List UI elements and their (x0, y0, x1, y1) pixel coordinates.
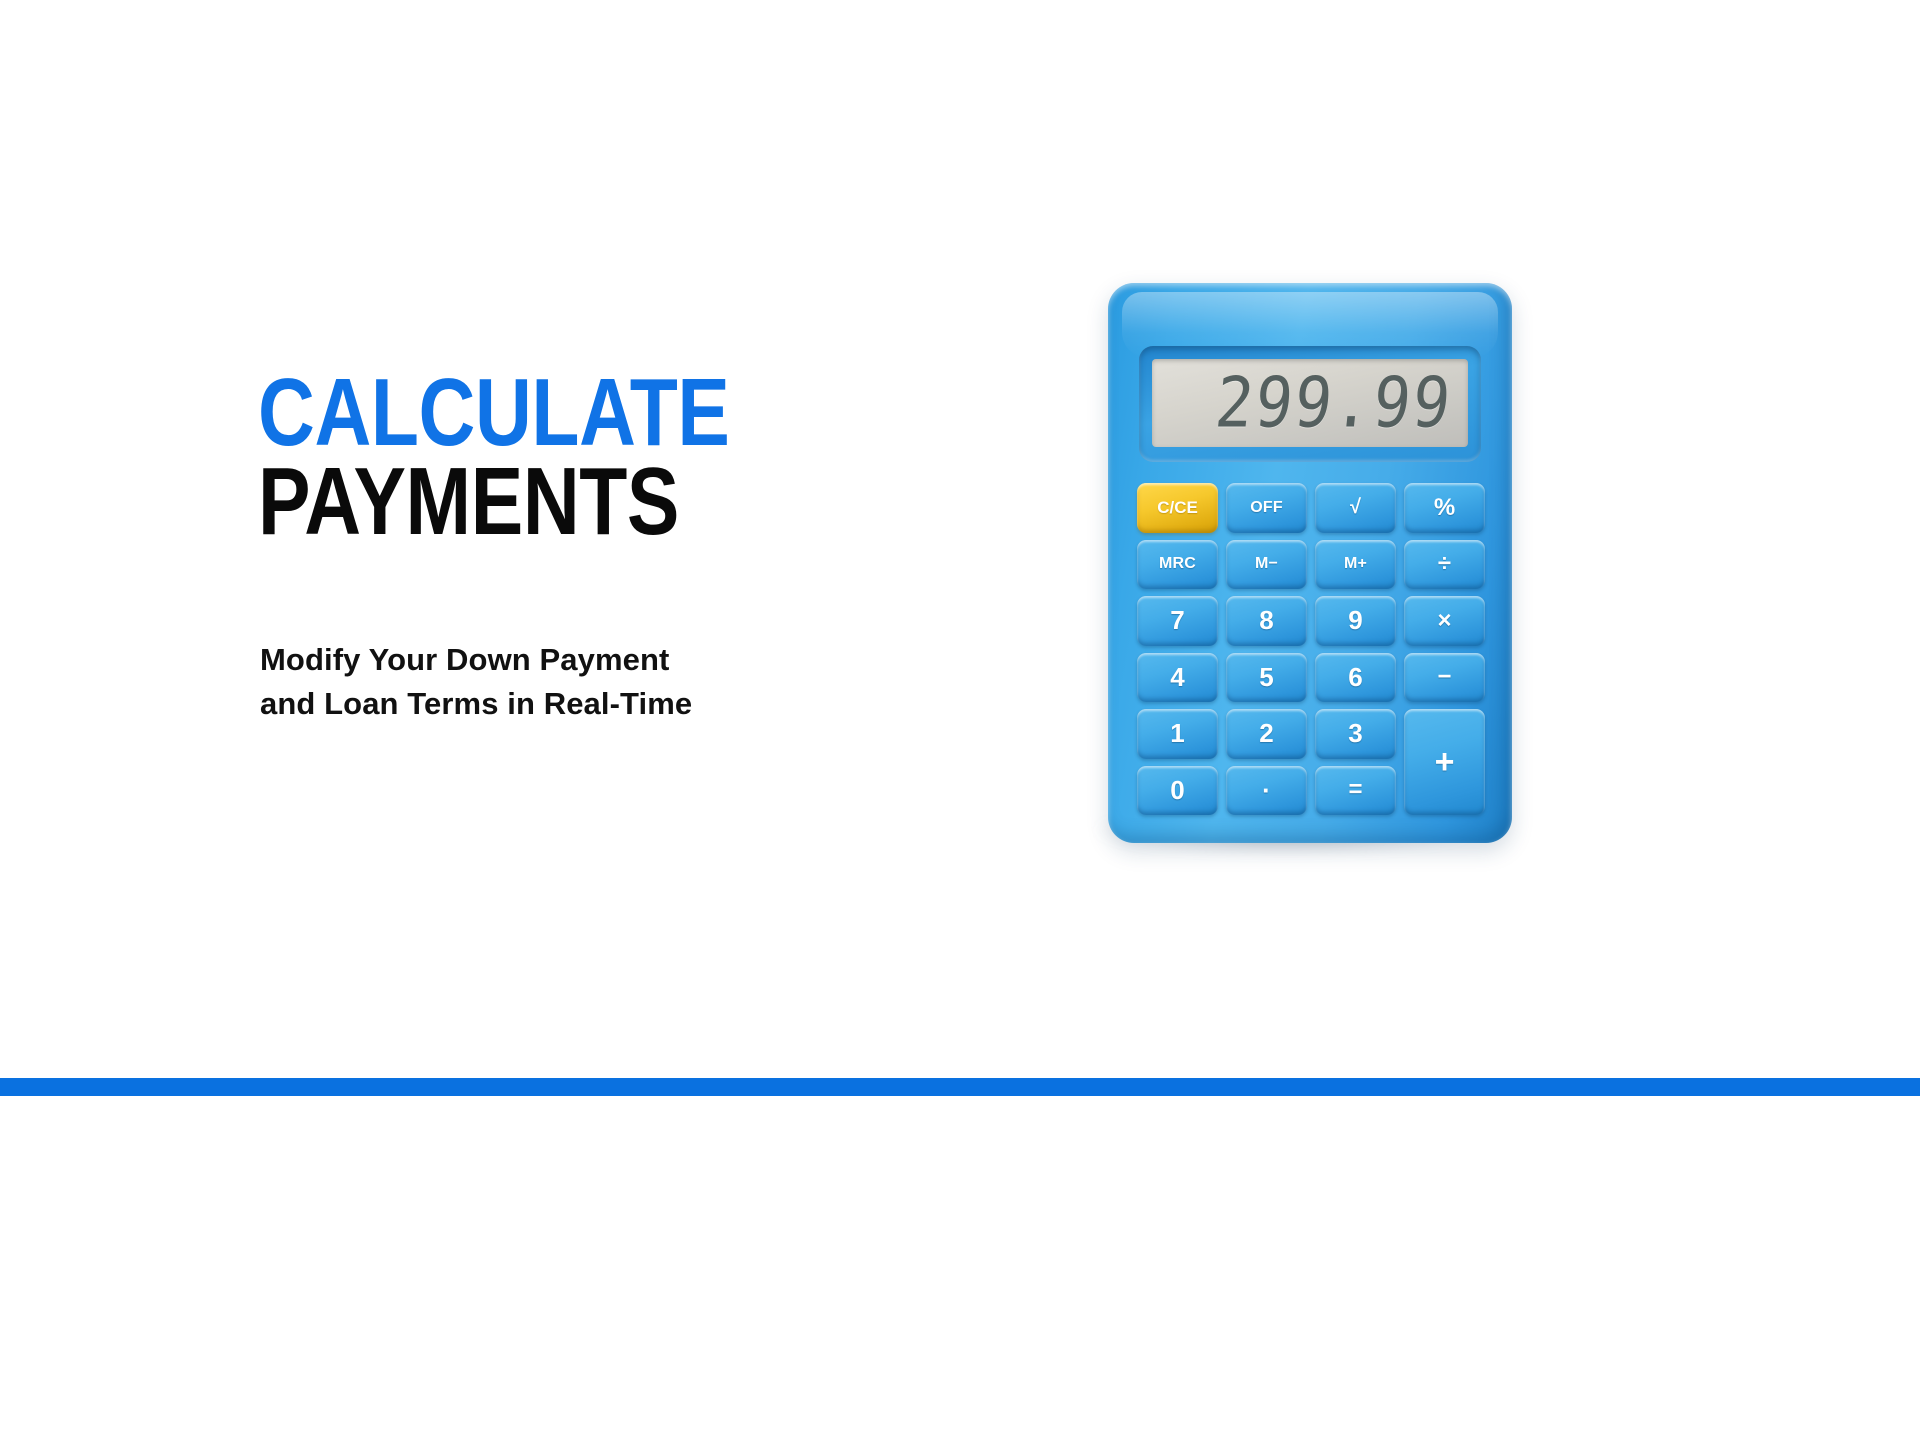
hero-section: CALCULATE PAYMENTS Modify Your Down Paym… (0, 0, 1920, 1078)
calculator-key-[interactable]: + (1404, 709, 1485, 815)
calculator-key-8[interactable]: 8 (1226, 596, 1307, 646)
headline-block: CALCULATE PAYMENTS (258, 368, 958, 547)
calculator-key-[interactable]: ÷ (1404, 540, 1485, 590)
calculator-key-mrc[interactable]: MRC (1137, 540, 1218, 590)
calculator-key-m[interactable]: M+ (1315, 540, 1396, 590)
calculator-key-3[interactable]: 3 (1315, 709, 1396, 759)
calculator-key-[interactable]: − (1404, 653, 1485, 703)
calculator-key-2[interactable]: 2 (1226, 709, 1307, 759)
calculator-body: 299.99 C/CEOFF√%MRCM−M+÷789×456−123+0·= (1108, 283, 1512, 843)
headline-line-secondary: PAYMENTS (258, 457, 832, 546)
calculator-key-1[interactable]: 1 (1137, 709, 1218, 759)
footer-section: NO BRAINER CHECKOUT ™ DGDG BE HAPPY (0, 1096, 1920, 1440)
subheadline: Modify Your Down Payment and Loan Terms … (260, 638, 900, 726)
calculator-key-4[interactable]: 4 (1137, 653, 1218, 703)
calculator-key-m[interactable]: M− (1226, 540, 1307, 590)
subheadline-line-1: Modify Your Down Payment (260, 638, 900, 682)
headline-line-primary: CALCULATE (258, 368, 832, 457)
calculator-key-7[interactable]: 7 (1137, 596, 1218, 646)
calculator-key-[interactable]: × (1404, 596, 1485, 646)
calculator-key-off[interactable]: OFF (1226, 483, 1307, 533)
calculator-key-cce[interactable]: C/CE (1137, 483, 1218, 533)
section-divider-bar (0, 1078, 1920, 1096)
calculator-display-value: 299.99 (1212, 368, 1455, 437)
calculator-key-[interactable]: √ (1315, 483, 1396, 533)
calculator-key-0[interactable]: 0 (1137, 766, 1218, 816)
calculator-display-recess: 299.99 (1139, 346, 1481, 462)
calculator-lcd-screen: 299.99 (1152, 359, 1468, 447)
calculator-key-5[interactable]: 5 (1226, 653, 1307, 703)
subheadline-line-2: and Loan Terms in Real-Time (260, 682, 900, 726)
calculator-keypad[interactable]: C/CEOFF√%MRCM−M+÷789×456−123+0·= (1137, 483, 1485, 815)
calculator-key-6[interactable]: 6 (1315, 653, 1396, 703)
calculator-key-[interactable]: · (1226, 766, 1307, 816)
calculator-key-[interactable]: = (1315, 766, 1396, 816)
calculator-illustration: 299.99 C/CEOFF√%MRCM−M+÷789×456−123+0·= (1086, 283, 1490, 863)
calculator-key-9[interactable]: 9 (1315, 596, 1396, 646)
slide-canvas: CALCULATE PAYMENTS Modify Your Down Paym… (0, 0, 1920, 1440)
calculator-key-[interactable]: % (1404, 483, 1485, 533)
